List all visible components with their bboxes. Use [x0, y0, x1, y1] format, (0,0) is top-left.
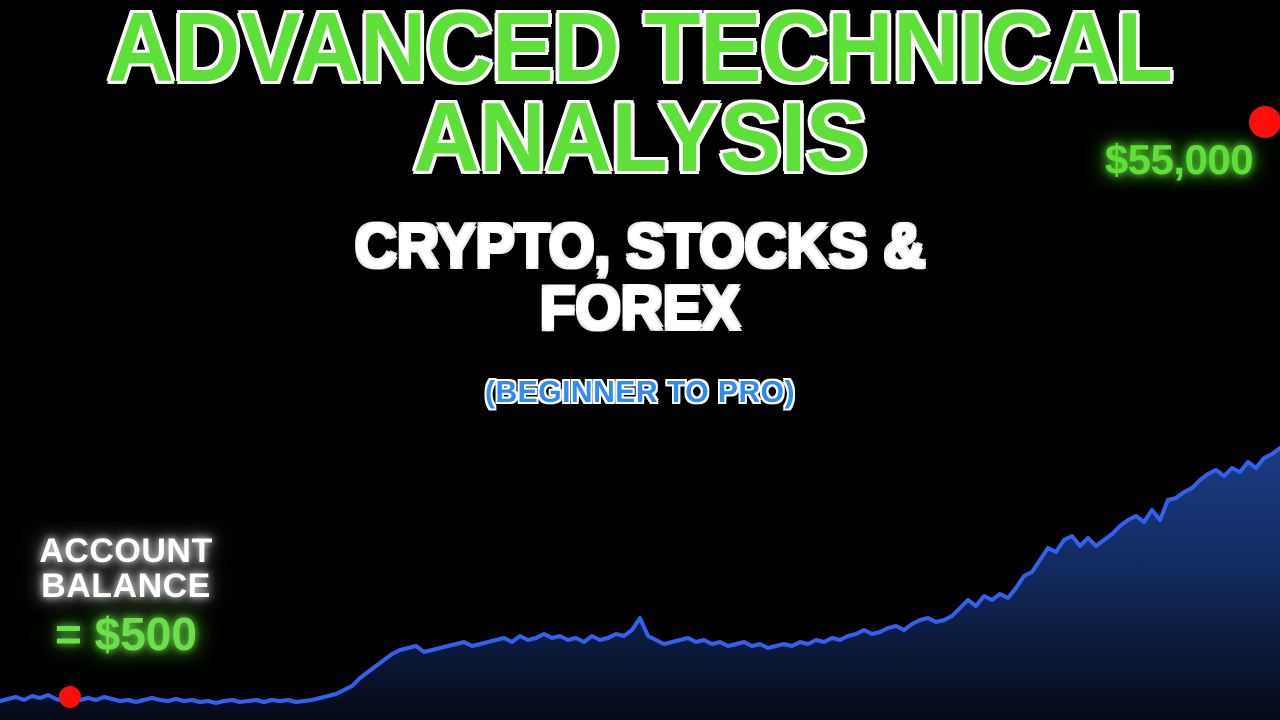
- price-chart: [0, 0, 1280, 720]
- chart-svg: [0, 0, 1280, 720]
- end-marker-dot: [1249, 106, 1280, 138]
- chart-area-fill: [0, 448, 1280, 720]
- start-marker-dot: [59, 686, 81, 708]
- thumbnail-canvas: ADVANCED TECHNICAL ANALYSIS CRYPTO, STOC…: [0, 0, 1280, 720]
